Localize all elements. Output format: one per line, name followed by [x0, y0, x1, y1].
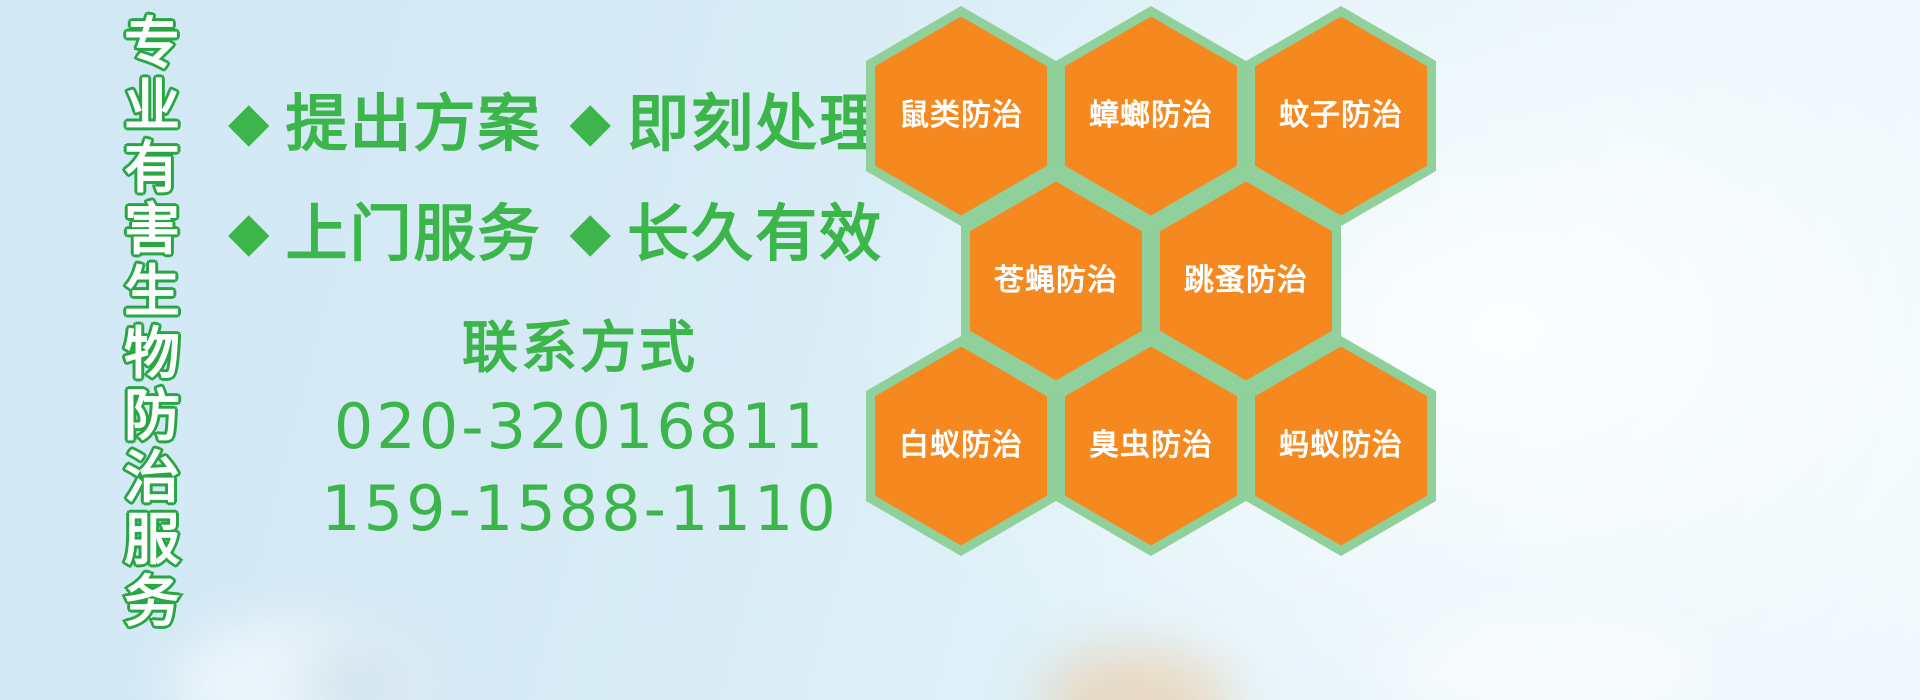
vertical-slogan-char: 专 [124, 14, 180, 76]
hex-inner: 蟑螂防治 [1065, 17, 1237, 216]
diamond-bullet-icon: ◆ [228, 95, 270, 149]
pest-control-banner: 专 业 有 害 生 物 防 治 服 务 ◆ 提出方案 ◆ 即刻处理 ◆ 上门服务… [0, 0, 1920, 700]
hex-inner: 跳蚤防治 [1160, 182, 1332, 381]
hex-inner: 蚊子防治 [1255, 17, 1427, 216]
hex-label: 蟑螂防治 [1089, 99, 1213, 133]
vertical-slogan-char: 务 [124, 572, 180, 634]
feature-row-2: ◆ 上门服务 ◆ 长久有效 [228, 196, 883, 272]
feature-item: ◆ 长久有效 [570, 196, 884, 272]
service-honeycomb: 鼠类防治 蟑螂防治 蚊子防治 苍蝇防治 跳蚤防治 白蚁防治 [858, 0, 1458, 554]
feature-item: ◆ 上门服务 [228, 196, 542, 272]
feature-label: 提出方案 [286, 86, 542, 162]
feature-item: ◆ 提出方案 [228, 86, 542, 162]
feature-label: 即刻处理 [627, 86, 883, 162]
hex-inner: 白蚁防治 [875, 347, 1047, 546]
hex-label: 鼠类防治 [899, 99, 1023, 133]
hex-inner: 蚂蚁防治 [1255, 347, 1427, 546]
contact-title: 联系方式 [300, 312, 860, 386]
vertical-slogan-char: 害 [124, 200, 180, 262]
background-blob [1380, 615, 1710, 700]
vertical-slogan-char: 生 [124, 262, 180, 324]
feature-label: 长久有效 [627, 196, 883, 272]
hex-label: 白蚁防治 [899, 429, 1023, 463]
contact-phone-mobile[interactable]: 159-1588-1110 [300, 468, 860, 550]
feature-label: 上门服务 [286, 196, 542, 272]
contact-phone-landline[interactable]: 020-32016811 [300, 386, 860, 468]
hex-label: 跳蚤防治 [1184, 264, 1308, 298]
vertical-slogan: 专 业 有 害 生 物 防 治 服 务 [104, 14, 200, 584]
hex-label: 蚂蚁防治 [1279, 429, 1403, 463]
background-blob [300, 640, 420, 700]
background-blob [170, 620, 430, 700]
background-blob [1040, 650, 1230, 700]
contact-block: 联系方式 020-32016811 159-1588-1110 [300, 312, 860, 550]
diamond-bullet-icon: ◆ [570, 95, 612, 149]
vertical-slogan-char: 有 [124, 138, 180, 200]
hex-inner: 鼠类防治 [875, 17, 1047, 216]
vertical-slogan-char: 防 [124, 386, 180, 448]
diamond-bullet-icon: ◆ [570, 205, 612, 259]
vertical-slogan-char: 业 [124, 76, 180, 138]
hex-label: 臭虫防治 [1089, 429, 1213, 463]
feature-row-1: ◆ 提出方案 ◆ 即刻处理 [228, 86, 883, 162]
hex-label: 蚊子防治 [1279, 99, 1403, 133]
hex-label: 苍蝇防治 [994, 264, 1118, 298]
hex-inner: 臭虫防治 [1065, 347, 1237, 546]
diamond-bullet-icon: ◆ [228, 205, 270, 259]
vertical-slogan-char: 物 [124, 324, 180, 386]
vertical-slogan-char: 治 [124, 448, 180, 510]
vertical-slogan-char: 服 [124, 510, 180, 572]
hex-inner: 苍蝇防治 [970, 182, 1142, 381]
feature-item: ◆ 即刻处理 [570, 86, 884, 162]
